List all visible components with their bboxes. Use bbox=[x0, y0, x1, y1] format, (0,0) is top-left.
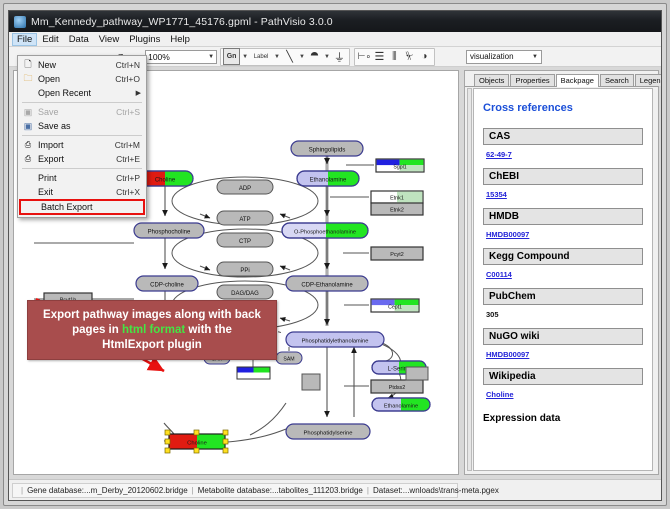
drawing-tools-group: Gn ▼ Label ▼ ╲ ▼ ⯊ ▼ ⏚ bbox=[220, 48, 350, 66]
expression-data-title: Expression data bbox=[483, 413, 643, 424]
file-menu-print-accel: Ctrl+P bbox=[116, 173, 146, 183]
line-button[interactable]: ╲ bbox=[282, 49, 297, 64]
status-bar-content: | Gene database: ...m_Derby_20120602.bri… bbox=[12, 483, 458, 498]
file-menu-exit-label: Exit bbox=[38, 187, 116, 197]
tab-properties[interactable]: Properties bbox=[510, 74, 554, 86]
svg-text:Choline: Choline bbox=[187, 441, 207, 447]
svg-text:ADP: ADP bbox=[239, 186, 251, 192]
save-as-icon: ▣ bbox=[18, 119, 38, 133]
svg-text:Etnk2: Etnk2 bbox=[390, 207, 404, 213]
side-panel-tabs: Objects Properties Backpage Search Legen… bbox=[465, 71, 658, 87]
window-title: Mm_Kennedy_pathway_WP1771_45176.gpml - P… bbox=[31, 16, 333, 28]
file-menu-import[interactable]: ⎙ Import Ctrl+M bbox=[18, 138, 146, 152]
tab-backpage[interactable]: Backpage bbox=[556, 74, 599, 87]
order-button[interactable]: ◑ bbox=[417, 49, 432, 64]
xref-db-kegg-compound: Kegg Compound bbox=[483, 248, 643, 265]
menu-view[interactable]: View bbox=[94, 33, 124, 46]
svg-text:Sgpl1: Sgpl1 bbox=[393, 164, 406, 170]
visualization-combobox[interactable]: visualization ▼ bbox=[466, 50, 542, 64]
gene-product-button[interactable]: Gn bbox=[223, 48, 240, 65]
svg-text:DAG/DAG: DAG/DAG bbox=[231, 291, 259, 297]
side-panel: Objects Properties Backpage Search Legen… bbox=[464, 70, 659, 475]
node-phosphocholine: Phosphocholine bbox=[134, 223, 204, 238]
svg-text:Etnk1: Etnk1 bbox=[390, 195, 404, 201]
dataset-value: ...wnloads\trans-meta.pgex bbox=[403, 486, 499, 495]
annotation-line-1: Export pathway images along with back bbox=[43, 308, 261, 323]
svg-text:ATP: ATP bbox=[239, 217, 250, 223]
gene-pcyt2: Pcyt2 bbox=[371, 247, 423, 260]
annotation-line-2: pages in html format with the bbox=[72, 323, 232, 338]
file-menu-batch-export[interactable]: Batch Export bbox=[19, 199, 145, 215]
node-cdp-choline: CDP-choline bbox=[136, 276, 198, 291]
xref-db-hmdb: HMDB bbox=[483, 208, 643, 225]
svg-text:Pcyt2: Pcyt2 bbox=[390, 252, 403, 258]
svg-text:Choline: Choline bbox=[155, 178, 176, 184]
annotation-highlight: html format bbox=[122, 324, 185, 336]
xref-value-nugo-wiki[interactable]: HMDB00097 bbox=[486, 350, 643, 359]
gene-sgpl1: Sgpl1 bbox=[376, 159, 424, 172]
svg-text:Phosphatidylserine: Phosphatidylserine bbox=[304, 431, 353, 437]
visualization-value: visualization bbox=[470, 52, 514, 61]
file-menu-new[interactable]: 🗋 New Ctrl+N bbox=[18, 58, 146, 72]
align-stack-button[interactable]: ☰ bbox=[372, 49, 387, 64]
file-menu-print-label: Print bbox=[38, 173, 116, 183]
interaction-button[interactable]: ⯊ bbox=[307, 49, 322, 64]
file-menu-open-label: Open bbox=[38, 74, 115, 84]
menu-data[interactable]: Data bbox=[64, 33, 94, 46]
annotation-line-2c: with the bbox=[185, 324, 232, 336]
file-menu-new-accel: Ctrl+N bbox=[116, 60, 146, 70]
status-divider: | bbox=[21, 486, 23, 495]
file-menu-open-recent-label: Open Recent bbox=[38, 88, 136, 98]
xref-value-cas[interactable]: 62-49-7 bbox=[486, 150, 643, 159]
save-disk-icon: ▣ bbox=[18, 105, 38, 119]
node-o-phosphoethanolamine: O-Phosphoethanolamine bbox=[282, 223, 368, 238]
dataset-label: Dataset: bbox=[373, 486, 403, 495]
align-tools-group: ⊢∘ ☰ ⫼ ⏧ ◑ bbox=[354, 48, 435, 66]
file-menu-batch-export-label: Batch Export bbox=[41, 202, 143, 212]
menu-separator bbox=[22, 102, 142, 103]
chevron-down-icon[interactable]: ▼ bbox=[242, 54, 248, 60]
svg-text:Phosphatidylethanolamine: Phosphatidylethanolamine bbox=[302, 339, 369, 345]
import-icon: ⎙ bbox=[18, 138, 38, 152]
file-menu-open[interactable]: 🗀 Open Ctrl+O bbox=[18, 72, 146, 86]
file-menu-new-label: New bbox=[38, 60, 116, 70]
gene-pemt bbox=[237, 367, 270, 379]
blank-icon bbox=[18, 171, 38, 185]
file-menu-exit[interactable]: Exit Ctrl+X bbox=[18, 185, 146, 199]
file-menu-save-label: Save bbox=[38, 107, 116, 117]
tab-objects[interactable]: Objects bbox=[474, 74, 509, 86]
panel-drag-rail[interactable] bbox=[467, 88, 472, 471]
chevron-down-icon: ▼ bbox=[532, 54, 538, 60]
chevron-down-icon[interactable]: ▼ bbox=[324, 54, 330, 60]
xref-value-chebi[interactable]: 15354 bbox=[486, 190, 643, 199]
pathvisio-icon bbox=[14, 16, 26, 28]
node-ethanolamine-2: Ethanolamine bbox=[372, 398, 430, 411]
svg-text:CDP-choline: CDP-choline bbox=[150, 283, 184, 289]
new-file-icon: 🗋 bbox=[18, 58, 38, 72]
chevron-right-icon: ▶ bbox=[136, 89, 146, 97]
screenshot-frame: Mm_Kennedy_pathway_WP1771_45176.gpml - P… bbox=[0, 0, 670, 509]
tab-search[interactable]: Search bbox=[600, 74, 634, 86]
svg-text:Phosphocholine: Phosphocholine bbox=[148, 230, 191, 236]
gene-etnk1: Etnk1 bbox=[371, 191, 423, 203]
node-sphingolipids: Sphingolipids bbox=[291, 141, 363, 156]
gene-small-right bbox=[406, 367, 428, 380]
gene-ptdss2: Ptdss2 bbox=[371, 380, 423, 393]
annotation-line-2a: pages in bbox=[72, 324, 122, 336]
svg-text:PPi: PPi bbox=[240, 268, 249, 274]
gene-chka bbox=[302, 374, 320, 390]
xref-value-wikipedia[interactable]: Choline bbox=[486, 390, 643, 399]
title-bar: Mm_Kennedy_pathway_WP1771_45176.gpml - P… bbox=[9, 11, 661, 33]
xref-db-wikipedia: Wikipedia bbox=[483, 368, 643, 385]
metabolite-database-value: ...tabolites_111203.bridge bbox=[272, 486, 363, 495]
metabolite-database-label: Metabolite database: bbox=[198, 486, 272, 495]
node-ethanolamine: Ethanolamine bbox=[297, 171, 359, 186]
blank-icon bbox=[18, 185, 38, 199]
file-menu-import-accel: Ctrl+M bbox=[115, 140, 146, 150]
node-phosphatidylserine: Phosphatidylserine bbox=[286, 424, 370, 439]
file-menu-save-accel: Ctrl+S bbox=[116, 107, 146, 117]
file-menu-open-accel: Ctrl+O bbox=[115, 74, 146, 84]
menu-file[interactable]: File bbox=[12, 33, 37, 46]
zoom-value: 100% bbox=[148, 52, 170, 62]
status-divider: | bbox=[192, 486, 194, 495]
label-button[interactable]: Label bbox=[250, 49, 272, 64]
main-area: Sphingolipids Choline bbox=[9, 67, 661, 481]
node-phosphatidylethanolamine: Phosphatidylethanolamine bbox=[286, 332, 384, 347]
xref-value-hmdb[interactable]: HMDB00097 bbox=[486, 230, 643, 239]
menu-help[interactable]: Help bbox=[165, 33, 195, 46]
chevron-down-icon[interactable]: ▼ bbox=[299, 54, 305, 60]
svg-text:Sphingolipids: Sphingolipids bbox=[309, 147, 346, 154]
group-button[interactable]: ⏧ bbox=[402, 49, 417, 64]
metabolite-nodes: Sphingolipids Choline bbox=[118, 141, 430, 439]
gene-database-label: Gene database: bbox=[27, 486, 84, 495]
cross-references-title: Cross references bbox=[483, 102, 643, 114]
file-menu-open-recent[interactable]: Open Recent ▶ bbox=[18, 86, 146, 100]
file-menu-export[interactable]: ⎙ Export Ctrl+E bbox=[18, 152, 146, 166]
menu-separator bbox=[22, 168, 142, 169]
svg-text:Cept1: Cept1 bbox=[388, 304, 402, 310]
file-menu-import-label: Import bbox=[38, 140, 115, 150]
open-folder-icon: 🗀 bbox=[18, 72, 38, 86]
gene-cept1: Cept1 bbox=[371, 299, 419, 312]
pathvisio-window: Mm_Kennedy_pathway_WP1771_45176.gpml - P… bbox=[8, 10, 662, 501]
selected-choline-node: Choline bbox=[165, 430, 228, 453]
svg-text:CDP-Ethanolamine: CDP-Ethanolamine bbox=[301, 283, 353, 289]
file-menu-exit-accel: Ctrl+X bbox=[116, 187, 146, 197]
anchor-button[interactable]: ⏚ bbox=[332, 49, 347, 64]
node-cdp-ethanolamine: CDP-Ethanolamine bbox=[286, 276, 368, 291]
align-left-button[interactable]: ⊢∘ bbox=[357, 49, 372, 64]
file-menu-save: ▣ Save Ctrl+S bbox=[18, 105, 146, 119]
backpage-content: Cross references CAS 62-49-7 ChEBI 15354… bbox=[473, 88, 653, 471]
menu-edit[interactable]: Edit bbox=[37, 33, 63, 46]
xref-db-pubchem: PubChem bbox=[483, 288, 643, 305]
svg-text:Ethanolamine: Ethanolamine bbox=[310, 178, 347, 184]
xref-value-kegg-compound[interactable]: C00114 bbox=[486, 270, 643, 279]
annotation-callout: Export pathway images along with back pa… bbox=[27, 300, 277, 360]
export-icon: ⎙ bbox=[18, 152, 38, 166]
svg-text:Ptdss2: Ptdss2 bbox=[389, 385, 405, 391]
status-bar: | Gene database: ...m_Derby_20120602.bri… bbox=[9, 479, 661, 500]
menu-plugins[interactable]: Plugins bbox=[124, 33, 165, 46]
file-menu-save-as[interactable]: ▣ Save as bbox=[18, 119, 146, 133]
svg-text:Ethanolamine: Ethanolamine bbox=[384, 403, 418, 409]
zoom-combobox[interactable]: 100% ▼ bbox=[145, 50, 217, 64]
distribute-button[interactable]: ⫼ bbox=[387, 49, 402, 64]
xref-value-pubchem: 305 bbox=[486, 310, 643, 319]
file-menu-save-as-label: Save as bbox=[38, 121, 140, 131]
file-menu-export-accel: Ctrl+E bbox=[116, 154, 146, 164]
blank-icon bbox=[18, 86, 38, 100]
file-menu-popup[interactable]: 🗋 New Ctrl+N 🗀 Open Ctrl+O Open Recent ▶… bbox=[17, 55, 147, 218]
file-menu-export-label: Export bbox=[38, 154, 116, 164]
menu-bar: File Edit Data View Plugins Help bbox=[9, 32, 661, 47]
chevron-down-icon: ▼ bbox=[208, 54, 214, 60]
tab-legend[interactable]: Legend bbox=[635, 74, 662, 86]
blank-icon bbox=[21, 200, 41, 214]
gene-etnk2: Etnk2 bbox=[371, 203, 423, 215]
svg-text:CTP: CTP bbox=[239, 239, 251, 245]
gene-database-value: ...m_Derby_20120602.bridge bbox=[84, 486, 188, 495]
annotation-line-3: HtmlExport plugin bbox=[102, 338, 202, 353]
file-menu-print[interactable]: Print Ctrl+P bbox=[18, 171, 146, 185]
svg-text:SAM: SAM bbox=[283, 357, 294, 363]
xref-db-nugo-wiki: NuGO wiki bbox=[483, 328, 643, 345]
chevron-down-icon[interactable]: ▼ bbox=[274, 54, 280, 60]
xref-db-chebi: ChEBI bbox=[483, 168, 643, 185]
svg-text:O-Phosphoethanolamine: O-Phosphoethanolamine bbox=[294, 230, 356, 236]
status-divider: | bbox=[367, 486, 369, 495]
xref-db-cas: CAS bbox=[483, 128, 643, 145]
menu-separator bbox=[22, 135, 142, 136]
